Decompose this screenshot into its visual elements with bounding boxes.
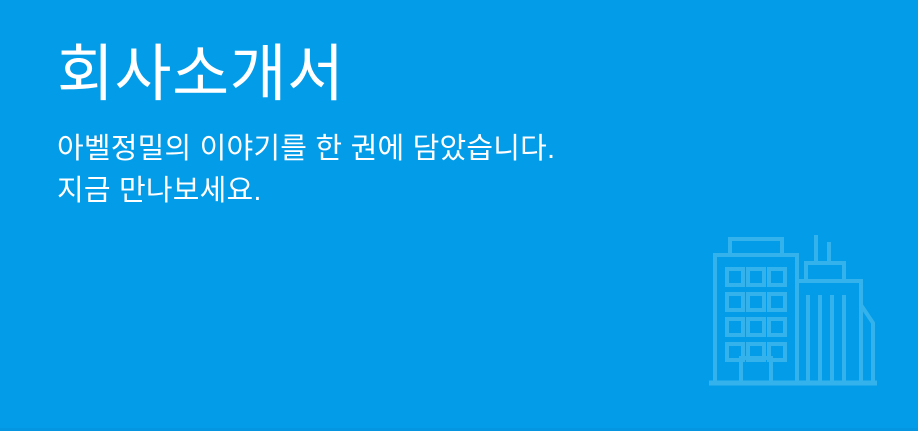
tower-angled-wing [861,305,873,383]
window [769,344,785,360]
hero-banner: 회사소개서 아벨정밀의 이야기를 한 권에 담았습니다. 지금 만나보세요. [0,0,918,431]
left-building [715,255,797,383]
window [748,294,764,310]
buildings-icon [708,227,878,387]
window [727,294,743,310]
page-title: 회사소개서 [57,38,697,112]
office-buildings-illustration [708,227,878,387]
window [748,319,764,335]
window [748,269,764,285]
hero-subtitle: 아벨정밀의 이야기를 한 권에 담았습니다. 지금 만나보세요. [57,112,697,212]
right-tower [797,281,861,383]
window [769,294,785,310]
window [769,319,785,335]
right-tower-cap [806,263,844,281]
hero-text-block: 회사소개서 아벨정밀의 이야기를 한 권에 담았습니다. 지금 만나보세요. [57,38,697,212]
hero-subtitle-line-2: 지금 만나보세요. [57,170,697,212]
entrance-door [741,358,771,383]
window [769,269,785,285]
window [748,344,764,360]
window [727,344,743,360]
window [727,269,743,285]
hero-subtitle-line-1: 아벨정밀의 이야기를 한 권에 담았습니다. [57,128,697,170]
left-building-roof-cap [730,239,782,255]
window [727,319,743,335]
